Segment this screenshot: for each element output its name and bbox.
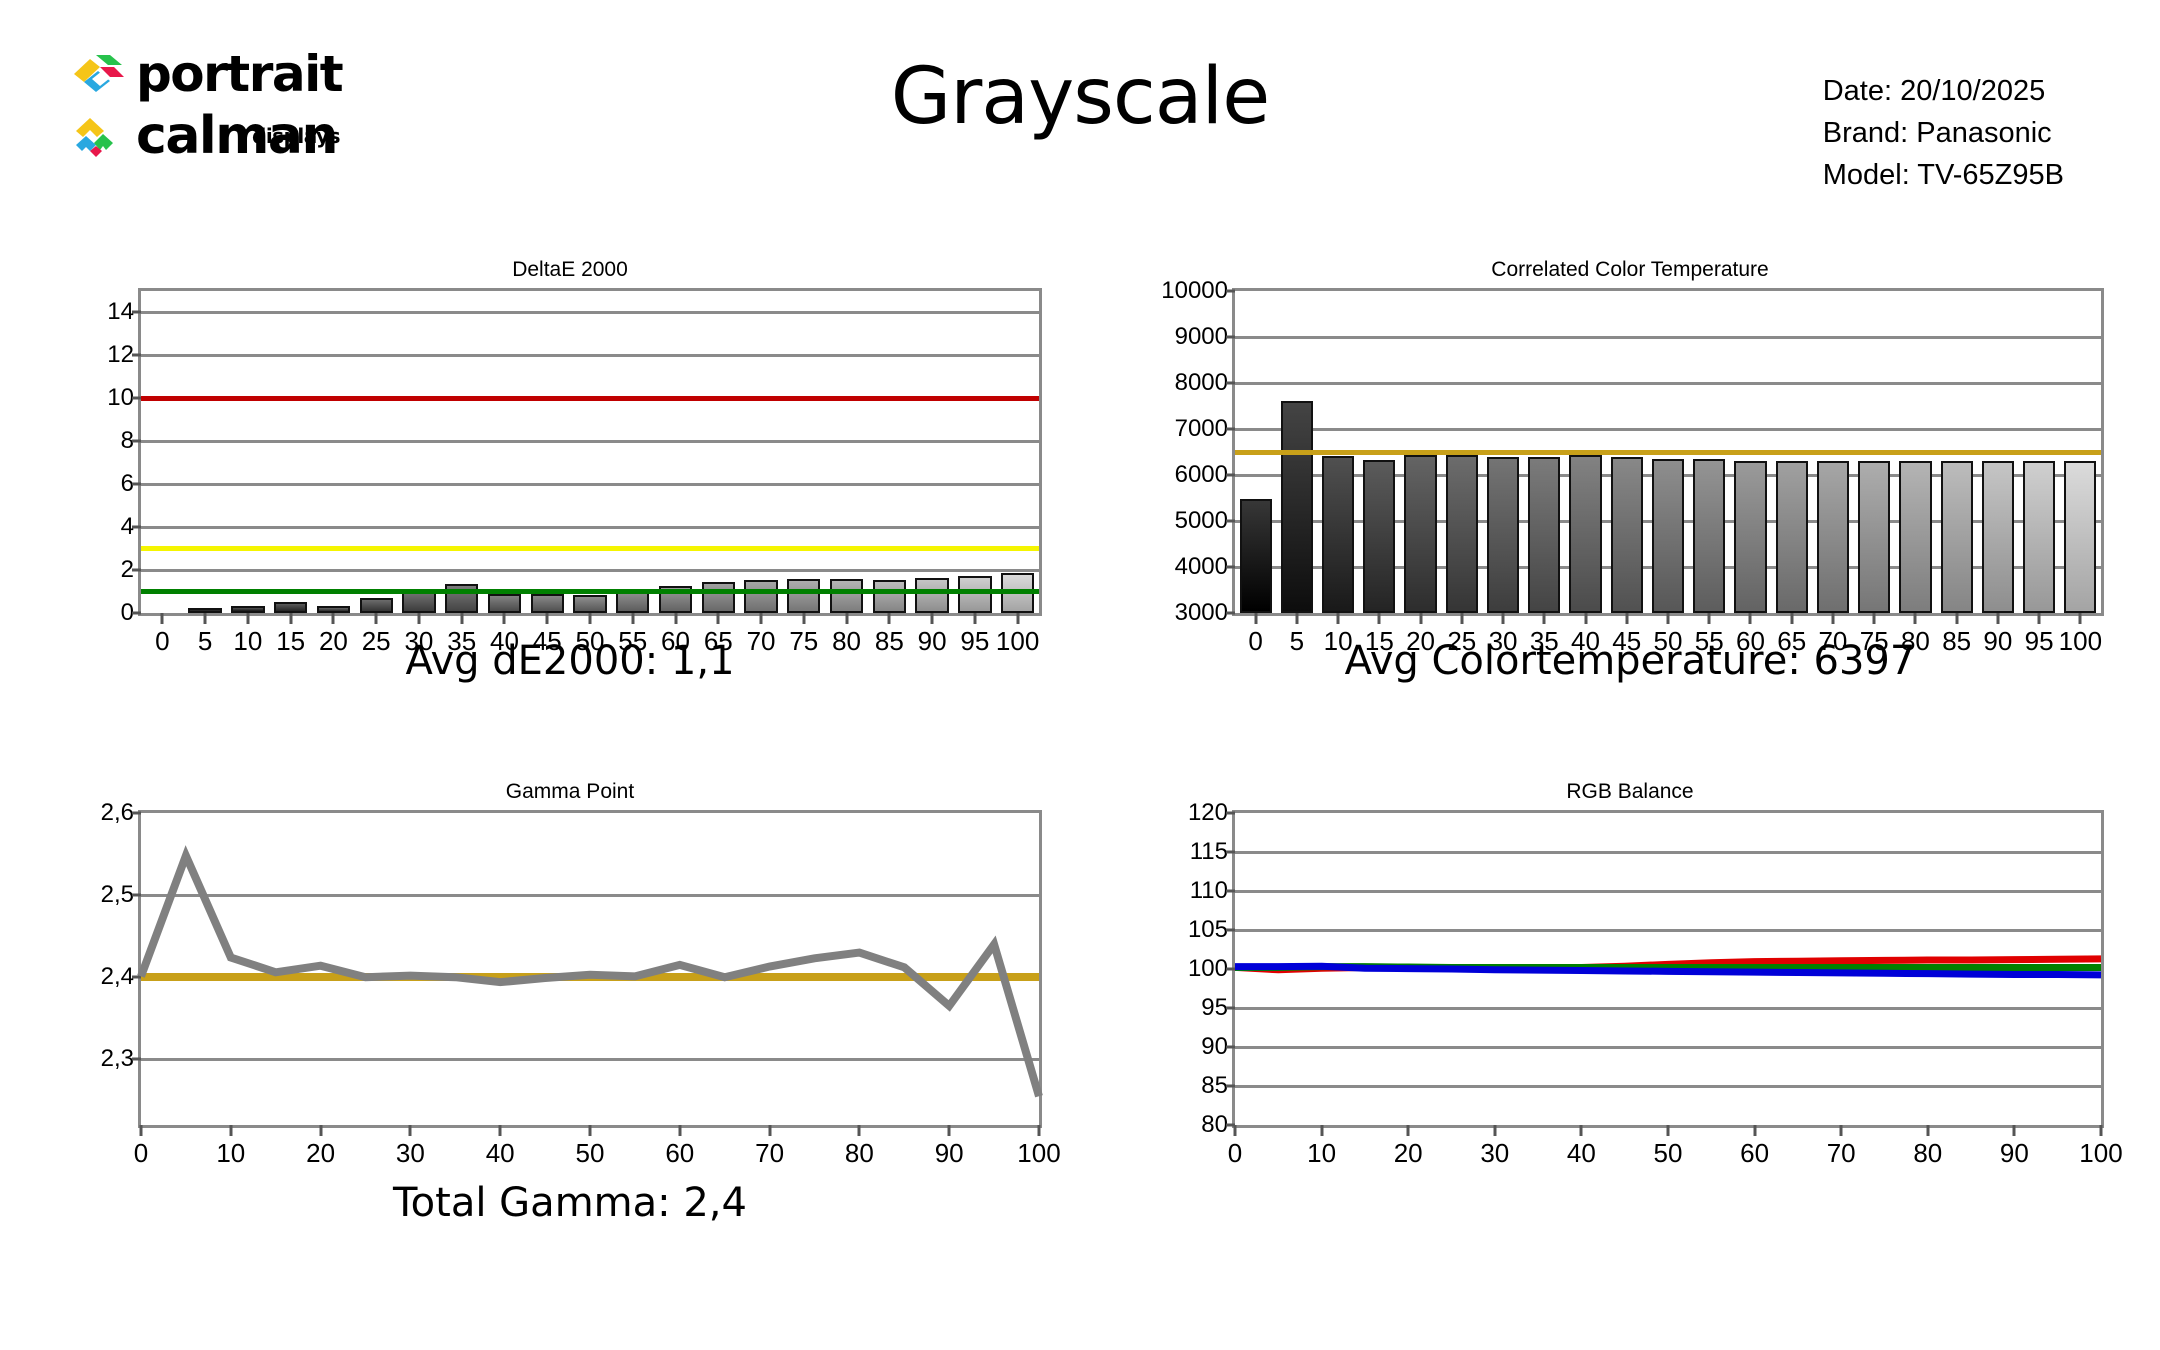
x-axis-tick-mark (460, 613, 463, 624)
y-axis-tick-mark (1226, 474, 1235, 477)
y-axis-tick-mark (1226, 1046, 1235, 1049)
y-axis-tick-mark (1226, 929, 1235, 932)
bar (744, 580, 777, 613)
x-axis-tick-mark (948, 1125, 951, 1136)
y-axis-tick-label: 14 (107, 298, 134, 326)
panel-gamma-point: Gamma Point 2,32,42,52,60102030405060708… (60, 780, 1080, 1190)
x-axis-tick-mark (1708, 613, 1711, 624)
y-axis-tick-label: 115 (1190, 838, 1228, 866)
x-axis-tick-mark (631, 613, 634, 624)
gridline (141, 311, 1039, 314)
panel-rgb-balance: RGB Balance 8085909510010511011512001020… (1120, 780, 2140, 1190)
y-axis-tick-mark (1226, 1007, 1235, 1010)
x-axis-tick-label: 20 (306, 1138, 335, 1169)
gridline (1235, 428, 2101, 431)
y-axis-tick-label: 105 (1188, 916, 1228, 944)
series-gamma (141, 856, 1039, 1097)
x-axis-tick-mark (1016, 613, 1019, 624)
x-axis-tick-mark (1254, 613, 1257, 624)
x-axis-tick-mark (289, 613, 292, 624)
x-axis-tick-label: 100 (2079, 1138, 2122, 1169)
plot-area-rgb: 8085909510010511011512001020304050607080… (1232, 810, 2104, 1128)
y-axis-tick-mark (132, 526, 141, 529)
x-axis-tick-mark (319, 1125, 322, 1136)
y-axis-tick-label: 9000 (1175, 323, 1228, 351)
x-axis-tick-mark (375, 613, 378, 624)
x-axis-tick-mark (1419, 613, 1422, 624)
x-axis-tick-mark (1753, 1125, 1756, 1136)
bar (573, 595, 606, 613)
x-axis-tick-mark (1502, 613, 1505, 624)
x-axis-tick-mark (1543, 613, 1546, 624)
bar (1899, 461, 1931, 613)
x-axis-tick-label: 50 (576, 1138, 605, 1169)
x-axis-tick-label: 10 (216, 1138, 245, 1169)
x-axis-tick-label: 80 (845, 1138, 874, 1169)
y-axis-tick-mark (132, 569, 141, 572)
x-axis-tick-mark (2013, 1125, 2016, 1136)
x-axis-tick-mark (674, 613, 677, 624)
y-axis-tick-mark (132, 354, 141, 357)
x-axis-tick-mark (678, 1125, 681, 1136)
x-axis-tick-mark (845, 613, 848, 624)
x-axis-tick-mark (717, 613, 720, 624)
meta-brand: Brand: Panasonic (1823, 112, 2064, 154)
chart-title-rgb: RGB Balance (1120, 780, 2140, 804)
y-axis-tick-label: 6000 (1175, 461, 1228, 489)
gridline (141, 569, 1039, 572)
x-axis-tick-mark (246, 613, 249, 624)
y-axis-tick-mark (132, 440, 141, 443)
x-axis-tick-mark (503, 613, 506, 624)
x-axis-tick-mark (1580, 1125, 1583, 1136)
y-axis-tick-mark (1226, 382, 1235, 385)
bar (1982, 461, 2014, 613)
y-axis-tick-label: 3000 (1175, 599, 1228, 627)
x-axis-tick-label: 30 (396, 1138, 425, 1169)
x-axis-tick-mark (1407, 1125, 1410, 1136)
bar (360, 598, 393, 613)
y-axis-tick-label: 90 (1201, 1033, 1228, 1061)
x-axis-tick-mark (768, 1125, 771, 1136)
x-axis-tick-mark (1831, 613, 1834, 624)
gridline (141, 483, 1039, 486)
y-axis-tick-label: 8000 (1175, 369, 1228, 397)
y-axis-tick-label: 2,4 (101, 963, 134, 991)
bar (1817, 461, 1849, 613)
y-axis-tick-mark (1226, 851, 1235, 854)
x-axis-tick-mark (1955, 613, 1958, 624)
gridline (1235, 382, 2101, 385)
x-axis-tick-label: 90 (2000, 1138, 2029, 1169)
x-axis-tick-mark (2038, 613, 2041, 624)
x-axis-tick-mark (589, 613, 592, 624)
bar (1693, 459, 1725, 613)
bar (1487, 457, 1519, 613)
x-axis-tick-label: 0 (1228, 1138, 1242, 1169)
gridline (141, 440, 1039, 443)
y-axis-tick-mark (1226, 612, 1235, 615)
x-axis-tick-mark (802, 613, 805, 624)
x-axis-tick-mark (1320, 1125, 1323, 1136)
x-axis-tick-label: 40 (486, 1138, 515, 1169)
x-axis-tick-mark (1667, 1125, 1670, 1136)
x-axis-tick-mark (1996, 613, 1999, 624)
x-axis-tick-label: 90 (935, 1138, 964, 1169)
bar (1528, 457, 1560, 613)
bar (873, 580, 906, 613)
x-axis-tick-mark (409, 1125, 412, 1136)
panel-cct: Correlated Color Temperature 30004000500… (1120, 258, 2140, 678)
bar (1858, 461, 1890, 613)
y-axis-tick-label: 2,6 (101, 799, 134, 827)
y-axis-tick-mark (1226, 290, 1235, 293)
y-axis-tick-mark (1226, 428, 1235, 431)
x-axis-tick-mark (760, 613, 763, 624)
bar (702, 582, 735, 613)
x-axis-tick-label: 60 (1740, 1138, 1769, 1169)
x-axis-tick-label: 0 (134, 1138, 148, 1169)
y-axis-tick-label: 7000 (1175, 415, 1228, 443)
x-axis-tick-mark (229, 1125, 232, 1136)
y-axis-tick-mark (1226, 566, 1235, 569)
bar (531, 594, 564, 613)
chart-title-deltae: DeltaE 2000 (60, 258, 1080, 282)
x-axis-tick-mark (332, 613, 335, 624)
y-axis-tick-label: 12 (107, 341, 134, 369)
bar (317, 606, 350, 613)
bar (1404, 455, 1436, 613)
y-axis-tick-label: 100 (1188, 955, 1228, 983)
red-limit (141, 396, 1039, 401)
x-axis-tick-mark (1234, 1125, 1237, 1136)
y-axis-tick-label: 2,5 (101, 881, 134, 909)
chart-title-gamma: Gamma Point (60, 780, 1080, 804)
x-axis-tick-mark (546, 613, 549, 624)
x-axis-tick-mark (161, 613, 164, 624)
x-axis-tick-mark (888, 613, 891, 624)
x-axis-tick-mark (2079, 613, 2082, 624)
x-axis-tick-label: 40 (1567, 1138, 1596, 1169)
bar (2064, 461, 2096, 613)
x-axis-tick-mark (1584, 613, 1587, 624)
y-axis-tick-label: 120 (1188, 799, 1228, 827)
bar (787, 579, 820, 613)
y-axis-tick-label: 85 (1201, 1072, 1228, 1100)
summary-deltae: Avg dE2000: 1,1 (60, 638, 1080, 684)
x-axis-tick-mark (1790, 613, 1793, 624)
y-axis-tick-mark (1226, 336, 1235, 339)
y-axis-tick-mark (132, 812, 141, 815)
bar (915, 578, 948, 613)
meta-model: Model: TV-65Z95B (1823, 154, 2064, 196)
bar (1322, 456, 1354, 613)
x-axis-tick-mark (1873, 613, 1876, 624)
x-axis-tick-mark (931, 613, 934, 624)
plot-area-gamma: 2,32,42,52,60102030405060708090100 (138, 810, 1042, 1128)
page-header: portrait displays calman Grayscale Date:… (0, 0, 2160, 185)
y-axis-tick-mark (132, 1058, 141, 1061)
y-axis-tick-mark (1226, 968, 1235, 971)
bar (830, 579, 863, 613)
x-axis-tick-label: 20 (1394, 1138, 1423, 1169)
bar (1569, 455, 1601, 613)
bar (1941, 461, 1973, 613)
y-axis-tick-label: 95 (1201, 994, 1228, 1022)
bar (1240, 499, 1272, 613)
bar (1446, 455, 1478, 613)
x-axis-tick-mark (1926, 1125, 1929, 1136)
x-axis-tick-label: 60 (665, 1138, 694, 1169)
bar (1652, 459, 1684, 613)
gold-target (1235, 450, 2101, 455)
x-axis-tick-mark (1460, 613, 1463, 624)
y-axis-tick-label: 110 (1190, 877, 1228, 905)
x-axis-tick-mark (973, 613, 976, 624)
y-axis-tick-label: 80 (1201, 1111, 1228, 1139)
bar (274, 602, 307, 613)
x-axis-tick-mark (589, 1125, 592, 1136)
summary-cct: Avg Colortemperature: 6397 (1120, 638, 2140, 684)
bar (231, 606, 264, 613)
green-limit (141, 589, 1039, 594)
bar (1363, 460, 1395, 613)
x-axis-tick-mark (1914, 613, 1917, 624)
x-axis-tick-mark (1625, 613, 1628, 624)
x-axis-tick-label: 10 (1307, 1138, 1336, 1169)
plot-area-cct: 3000400050006000700080009000100000510152… (1232, 288, 2104, 616)
x-axis-tick-label: 30 (1480, 1138, 1509, 1169)
y-axis-tick-mark (1226, 1085, 1235, 1088)
bar (2023, 461, 2055, 613)
bar (488, 594, 521, 613)
gridline (141, 526, 1039, 529)
panel-deltae2000: DeltaE 2000 0246810121405101520253035404… (60, 258, 1080, 678)
x-axis-tick-mark (1038, 1125, 1041, 1136)
y-axis-tick-label: 5000 (1175, 507, 1228, 535)
x-axis-tick-label: 50 (1654, 1138, 1683, 1169)
y-axis-tick-mark (1226, 890, 1235, 893)
x-axis-tick-label: 80 (1913, 1138, 1942, 1169)
yellow-limit (141, 546, 1039, 551)
y-axis-tick-mark (1226, 520, 1235, 523)
report-metadata: Date: 20/10/2025 Brand: Panasonic Model:… (1823, 70, 2064, 196)
y-axis-tick-mark (132, 612, 141, 615)
x-axis-tick-mark (1667, 613, 1670, 624)
gridline (141, 354, 1039, 357)
bar (958, 576, 991, 613)
x-axis-tick-label: 70 (1827, 1138, 1856, 1169)
x-axis-tick-mark (1749, 613, 1752, 624)
y-axis-tick-label: 2,3 (101, 1045, 134, 1073)
x-axis-tick-mark (858, 1125, 861, 1136)
line-series-group (141, 813, 1039, 1125)
y-axis-tick-mark (132, 397, 141, 400)
x-axis-tick-mark (1378, 613, 1381, 624)
y-axis-tick-mark (132, 976, 141, 979)
x-axis-tick-mark (1493, 1125, 1496, 1136)
x-axis-tick-mark (140, 1125, 143, 1136)
bar (1776, 461, 1808, 613)
bar (1734, 461, 1766, 613)
plot-area-deltae: 0246810121405101520253035404550556065707… (138, 288, 1042, 616)
y-axis-tick-label: 10 (107, 384, 134, 412)
x-axis-tick-mark (204, 613, 207, 624)
bar (1281, 401, 1313, 613)
y-axis-tick-mark (132, 894, 141, 897)
x-axis-tick-mark (499, 1125, 502, 1136)
y-axis-tick-mark (1226, 812, 1235, 815)
x-axis-tick-mark (1840, 1125, 1843, 1136)
bar (1611, 457, 1643, 613)
y-axis-tick-mark (132, 483, 141, 486)
gridline (1235, 336, 2101, 339)
summary-gamma: Total Gamma: 2,4 (60, 1180, 1080, 1226)
meta-date: Date: 20/10/2025 (1823, 70, 2064, 112)
x-axis-tick-mark (417, 613, 420, 624)
y-axis-tick-label: 4000 (1175, 553, 1228, 581)
x-axis-tick-label: 70 (755, 1138, 784, 1169)
chart-title-cct: Correlated Color Temperature (1120, 258, 2140, 282)
x-axis-tick-label: 100 (1017, 1138, 1060, 1169)
line-series-group (1235, 813, 2101, 1125)
x-axis-tick-mark (1337, 613, 1340, 624)
x-axis-tick-mark (2100, 1125, 2103, 1136)
x-axis-tick-mark (1295, 613, 1298, 624)
y-axis-tick-mark (132, 311, 141, 314)
y-axis-tick-label: 10000 (1161, 277, 1228, 305)
